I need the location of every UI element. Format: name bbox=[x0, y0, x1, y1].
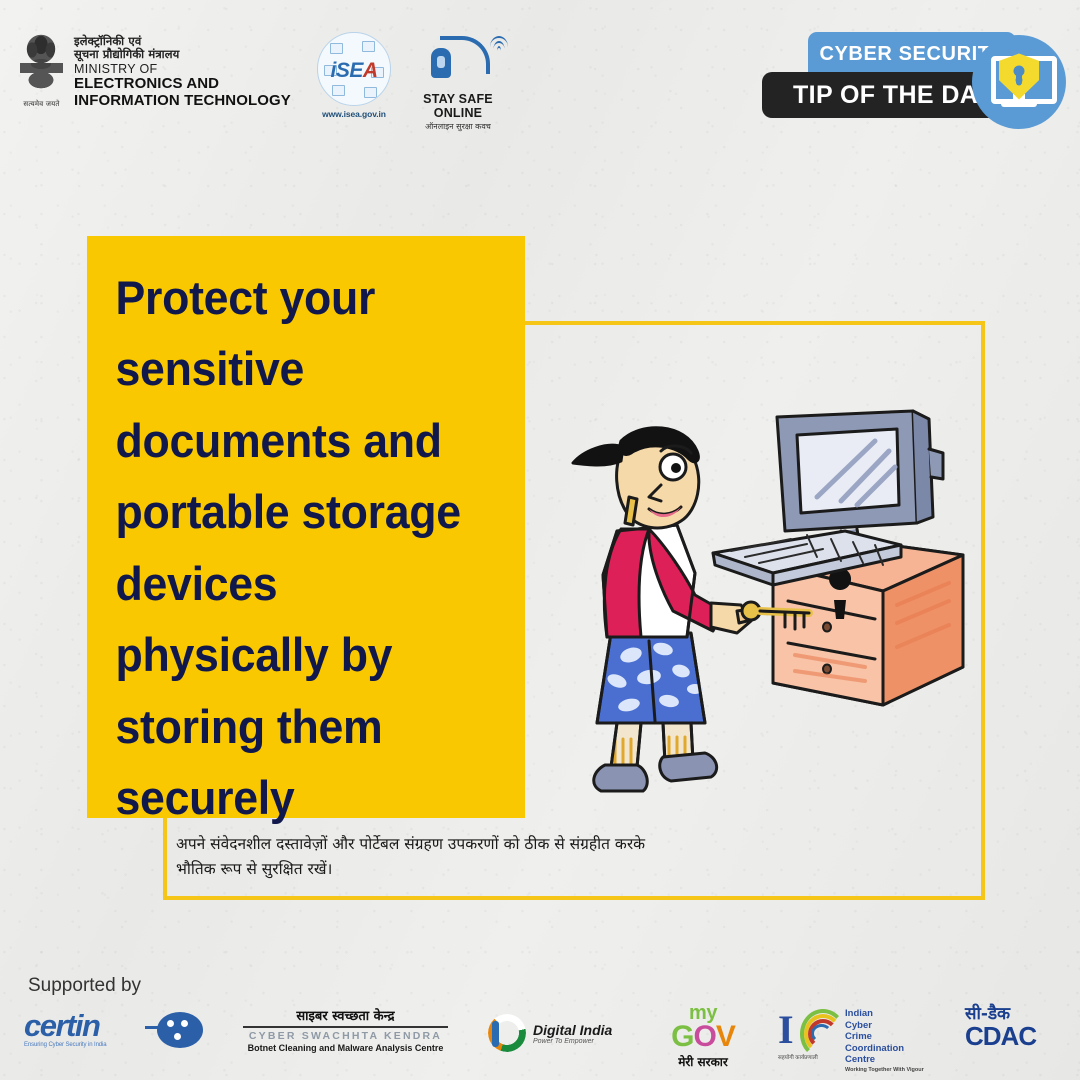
stay-safe-online-hindi: ऑनलाइन सुरक्षा कवच bbox=[404, 121, 512, 132]
csk-divider bbox=[243, 1026, 448, 1028]
emblem-motto: सत्यमेव जयते bbox=[18, 100, 65, 109]
isea-url[interactable]: www.isea.gov.in bbox=[307, 109, 401, 119]
i4c-tagline-en: Working Together With Vigour bbox=[845, 1067, 924, 1074]
i4c-line4: Coordination bbox=[845, 1043, 924, 1055]
isea-logo[interactable]: iSEA www.isea.gov.in bbox=[307, 32, 401, 119]
mygov-logo: my GOV मेरी सरकार bbox=[648, 1004, 758, 1070]
poster-canvas: सत्यमेव जयते इलेक्ट्रॉनिकी एवं सूचना प्र… bbox=[0, 0, 1080, 1080]
stay-safe-online-icon bbox=[404, 30, 512, 92]
isea-circle-icon: iSEA bbox=[317, 32, 391, 106]
digital-india-tagline: Power To Empower bbox=[533, 1038, 612, 1045]
i4c-letter: I bbox=[778, 1010, 794, 1050]
mygov-hindi: मेरी सरकार bbox=[648, 1053, 758, 1070]
csk-subtitle: Botnet Cleaning and Malware Analysis Cen… bbox=[243, 1043, 448, 1053]
i4c-line3: Crime bbox=[845, 1031, 924, 1043]
meity-hindi-line1: इलेक्ट्रॉनिकी एवं bbox=[74, 35, 291, 48]
digital-india-logo: Digital India Power To Empower bbox=[488, 1014, 633, 1054]
csk-english: CYBER SWACHHTA KENDRA bbox=[243, 1030, 448, 1042]
meity-logo: सत्यमेव जयते इलेक्ट्रॉनिकी एवं सूचना प्र… bbox=[18, 33, 291, 111]
shield-monitor-icon bbox=[972, 35, 1066, 129]
i4c-line5: Centre bbox=[845, 1054, 924, 1066]
digital-india-name: Digital India bbox=[533, 1023, 612, 1038]
i4c-logo: I सहयोगी कार्यप्रणाली Indian Cyber Crime… bbox=[778, 1008, 953, 1074]
mygov-g: G bbox=[671, 1020, 693, 1053]
cdac-english: CDAC bbox=[965, 1023, 1065, 1049]
stay-safe-online-english: STAY SAFE ONLINE bbox=[404, 92, 512, 120]
meity-hindi-line2: सूचना प्रौद्योगिकी मंत्रालय bbox=[74, 48, 291, 61]
badge-line2: TIP OF THE DAY bbox=[793, 81, 993, 110]
i4c-mark-icon: I सहयोगी कार्यप्रणाली bbox=[778, 1008, 840, 1052]
digital-india-i-icon bbox=[492, 1021, 499, 1047]
i4c-line1: Indian bbox=[845, 1008, 924, 1020]
mygov-v: V bbox=[716, 1020, 735, 1053]
mygov-o: O bbox=[693, 1020, 715, 1053]
certin-network-icon bbox=[157, 1012, 203, 1048]
i4c-tagline-hi: सहयोगी कार्यप्रणाली bbox=[778, 1053, 818, 1061]
ashoka-emblem-icon: सत्यमेव जयते bbox=[18, 33, 65, 111]
supported-by-label: Supported by bbox=[28, 975, 141, 997]
headline-text: Protect your sensitive documents and por… bbox=[87, 236, 503, 834]
certin-logo: certin Ensuring Cyber Security in India bbox=[24, 1010, 209, 1048]
meity-english-line1: MINISTRY OF bbox=[74, 62, 291, 76]
stay-safe-online-logo: STAY SAFE ONLINE ऑनलाइन सुरक्षा कवच bbox=[404, 30, 512, 132]
i4c-line2: Cyber bbox=[845, 1020, 924, 1032]
footer-logos: certin Ensuring Cyber Security in India … bbox=[0, 1000, 1080, 1072]
wifi-icon bbox=[488, 36, 510, 54]
hindi-translation-text: अपने संवेदनशील दस्तावेज़ों और पोर्टेबल स… bbox=[176, 832, 646, 882]
meity-english-line3: INFORMATION TECHNOLOGY bbox=[74, 93, 291, 110]
illustration-woman-locking-desk bbox=[545, 405, 975, 820]
meity-english-line2: ELECTRONICS AND bbox=[74, 76, 291, 93]
isea-wordmark-accent: A bbox=[363, 59, 378, 82]
headline-card: Protect your sensitive documents and por… bbox=[87, 236, 525, 818]
cdac-logo: सी-डैक CDAC bbox=[965, 1006, 1065, 1049]
cyber-swachhta-kendra-logo: साइबर स्वच्छता केन्द्र CYBER SWACHHTA KE… bbox=[243, 1006, 448, 1053]
csk-hindi: साइबर स्वच्छता केन्द्र bbox=[243, 1006, 448, 1024]
isea-wordmark: iSE bbox=[330, 59, 362, 82]
tip-of-the-day-badge: CYBER SECURITY TIP OF THE DAY bbox=[750, 32, 1072, 132]
